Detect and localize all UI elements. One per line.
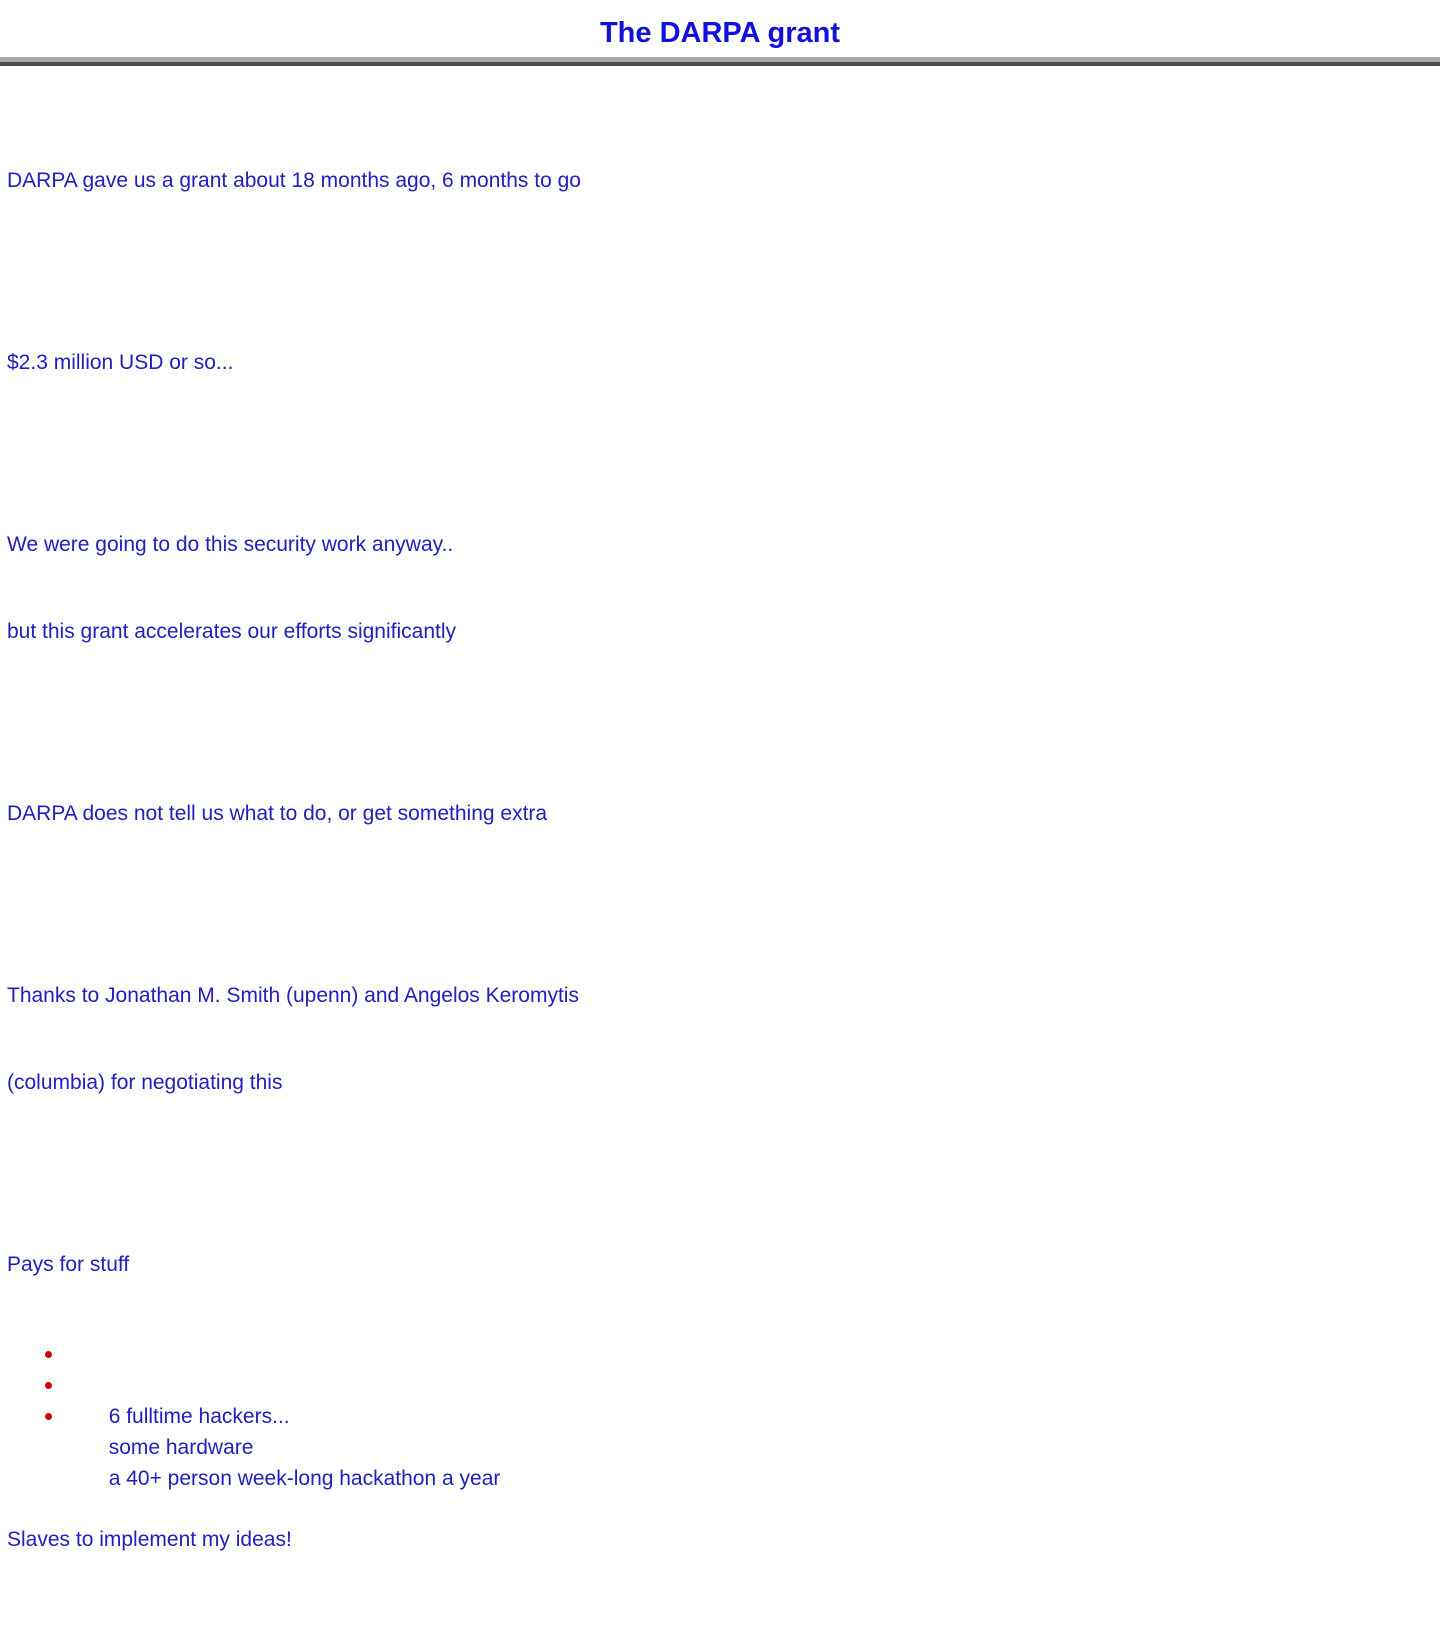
paragraph-line: Slaves to implement my ideas! <box>7 1525 1427 1554</box>
paragraph-line: We were going to do this security work a… <box>7 530 1427 559</box>
list-item-label: some hardware <box>109 1432 254 1463</box>
paragraph-line: Thanks to Jonathan M. Smith (upenn) and … <box>7 981 1427 1010</box>
paragraph-grant-timeline: DARPA gave us a grant about 18 months ag… <box>7 108 1427 253</box>
title-divider <box>0 57 1440 66</box>
paragraph-thanks: Thanks to Jonathan M. Smith (upenn) and … <box>7 923 1427 1155</box>
slide-page: The DARPA grant DARPA gave us a grant ab… <box>0 0 1440 900</box>
bullet-dot-icon <box>45 1413 52 1420</box>
list-item: 6 fulltime hackers... <box>7 1339 1427 1370</box>
paragraph-line: DARPA does not tell us what to do, or ge… <box>7 799 1427 828</box>
list-item: a 40+ person week-long hackathon a year <box>7 1401 1427 1432</box>
paragraph-line: but this grant accelerates our efforts s… <box>7 617 1427 646</box>
pays-for-stuff-list: 6 fulltime hackers... some hardware a 40… <box>7 1339 1427 1432</box>
page-title: The DARPA grant <box>0 16 1440 50</box>
paragraph-line: (columbia) for negotiating this <box>7 1068 1427 1097</box>
divider-shadow <box>0 62 1440 66</box>
list-heading-text: Pays for stuff <box>7 1250 1427 1279</box>
slide-body: DARPA gave us a grant about 18 months ag… <box>7 108 1427 1649</box>
paragraph-line: DARPA gave us a grant about 18 months ag… <box>7 166 1427 195</box>
paragraph-line: $2.3 million USD or so... <box>7 348 1427 377</box>
paragraph-grant-amount: $2.3 million USD or so... <box>7 290 1427 435</box>
bullet-dot-icon <box>45 1351 52 1358</box>
paragraph-security-work: We were going to do this security work a… <box>7 472 1427 704</box>
list-heading: Pays for stuff <box>7 1192 1427 1337</box>
list-item-label: a 40+ person week-long hackathon a year <box>109 1463 501 1494</box>
paragraph-no-strings: DARPA does not tell us what to do, or ge… <box>7 741 1427 886</box>
list-item: some hardware <box>7 1370 1427 1401</box>
bullet-dot-icon <box>45 1382 52 1389</box>
